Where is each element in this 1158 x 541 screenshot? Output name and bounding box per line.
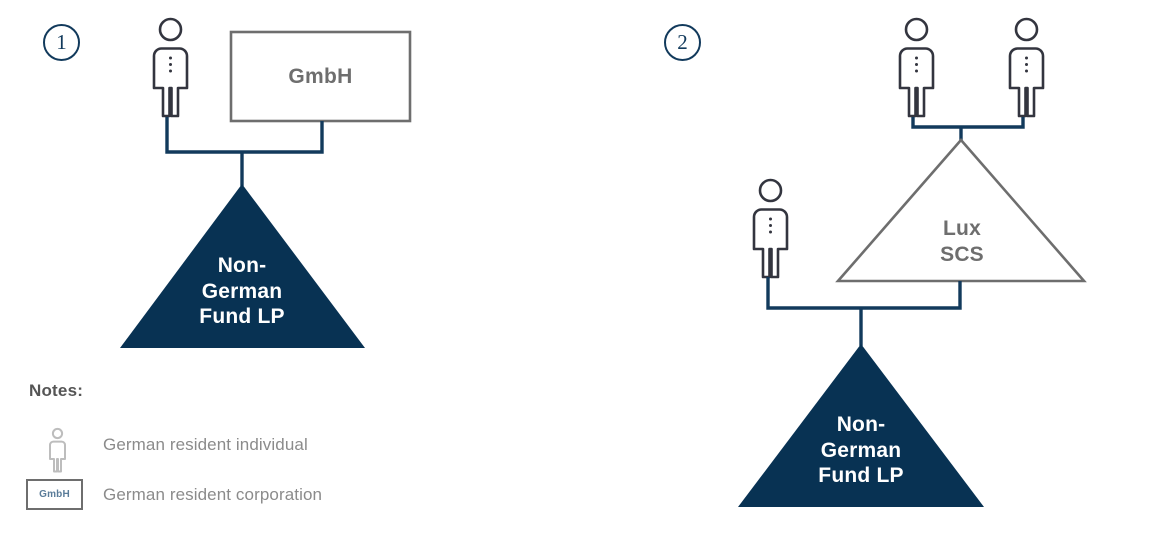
- person-icon-d1: [154, 19, 187, 116]
- fund-lp-triangle-d2: [738, 344, 984, 507]
- notes-title: Notes:: [29, 381, 83, 401]
- legend-item-corporation: GmbH German resident corporation: [26, 479, 322, 510]
- diagram-marker-2: 2: [664, 24, 701, 61]
- person-icon-d2-top-left: [900, 19, 933, 116]
- lux-scs-triangle: [838, 140, 1084, 281]
- legend-gmbh-icon-label: GmbH: [39, 489, 70, 500]
- diagram-vector-layer: [0, 0, 1158, 541]
- connector-lines-d2-top: [913, 117, 1023, 142]
- person-icon-d2-left: [754, 180, 787, 277]
- legend-corporation-label: German resident corporation: [103, 485, 322, 505]
- gmbh-box-icon: GmbH: [26, 479, 83, 510]
- legend-person-icon: [50, 429, 65, 472]
- diagram-marker-1: 1: [43, 24, 80, 61]
- connector-lines-d2-bottom: [768, 277, 960, 346]
- person-icon-d2-top-right: [1010, 19, 1043, 116]
- legend-individual-label: German resident individual: [103, 435, 308, 455]
- fund-lp-triangle-d1: [120, 184, 365, 348]
- connector-lines-d1: [167, 117, 322, 186]
- diagram-canvas: 1 2 GmbH Non- German Fund LP Lux SCS Non…: [0, 0, 1158, 541]
- gmbh-box-d1: [231, 32, 410, 121]
- legend-item-individual: German resident individual: [103, 435, 308, 455]
